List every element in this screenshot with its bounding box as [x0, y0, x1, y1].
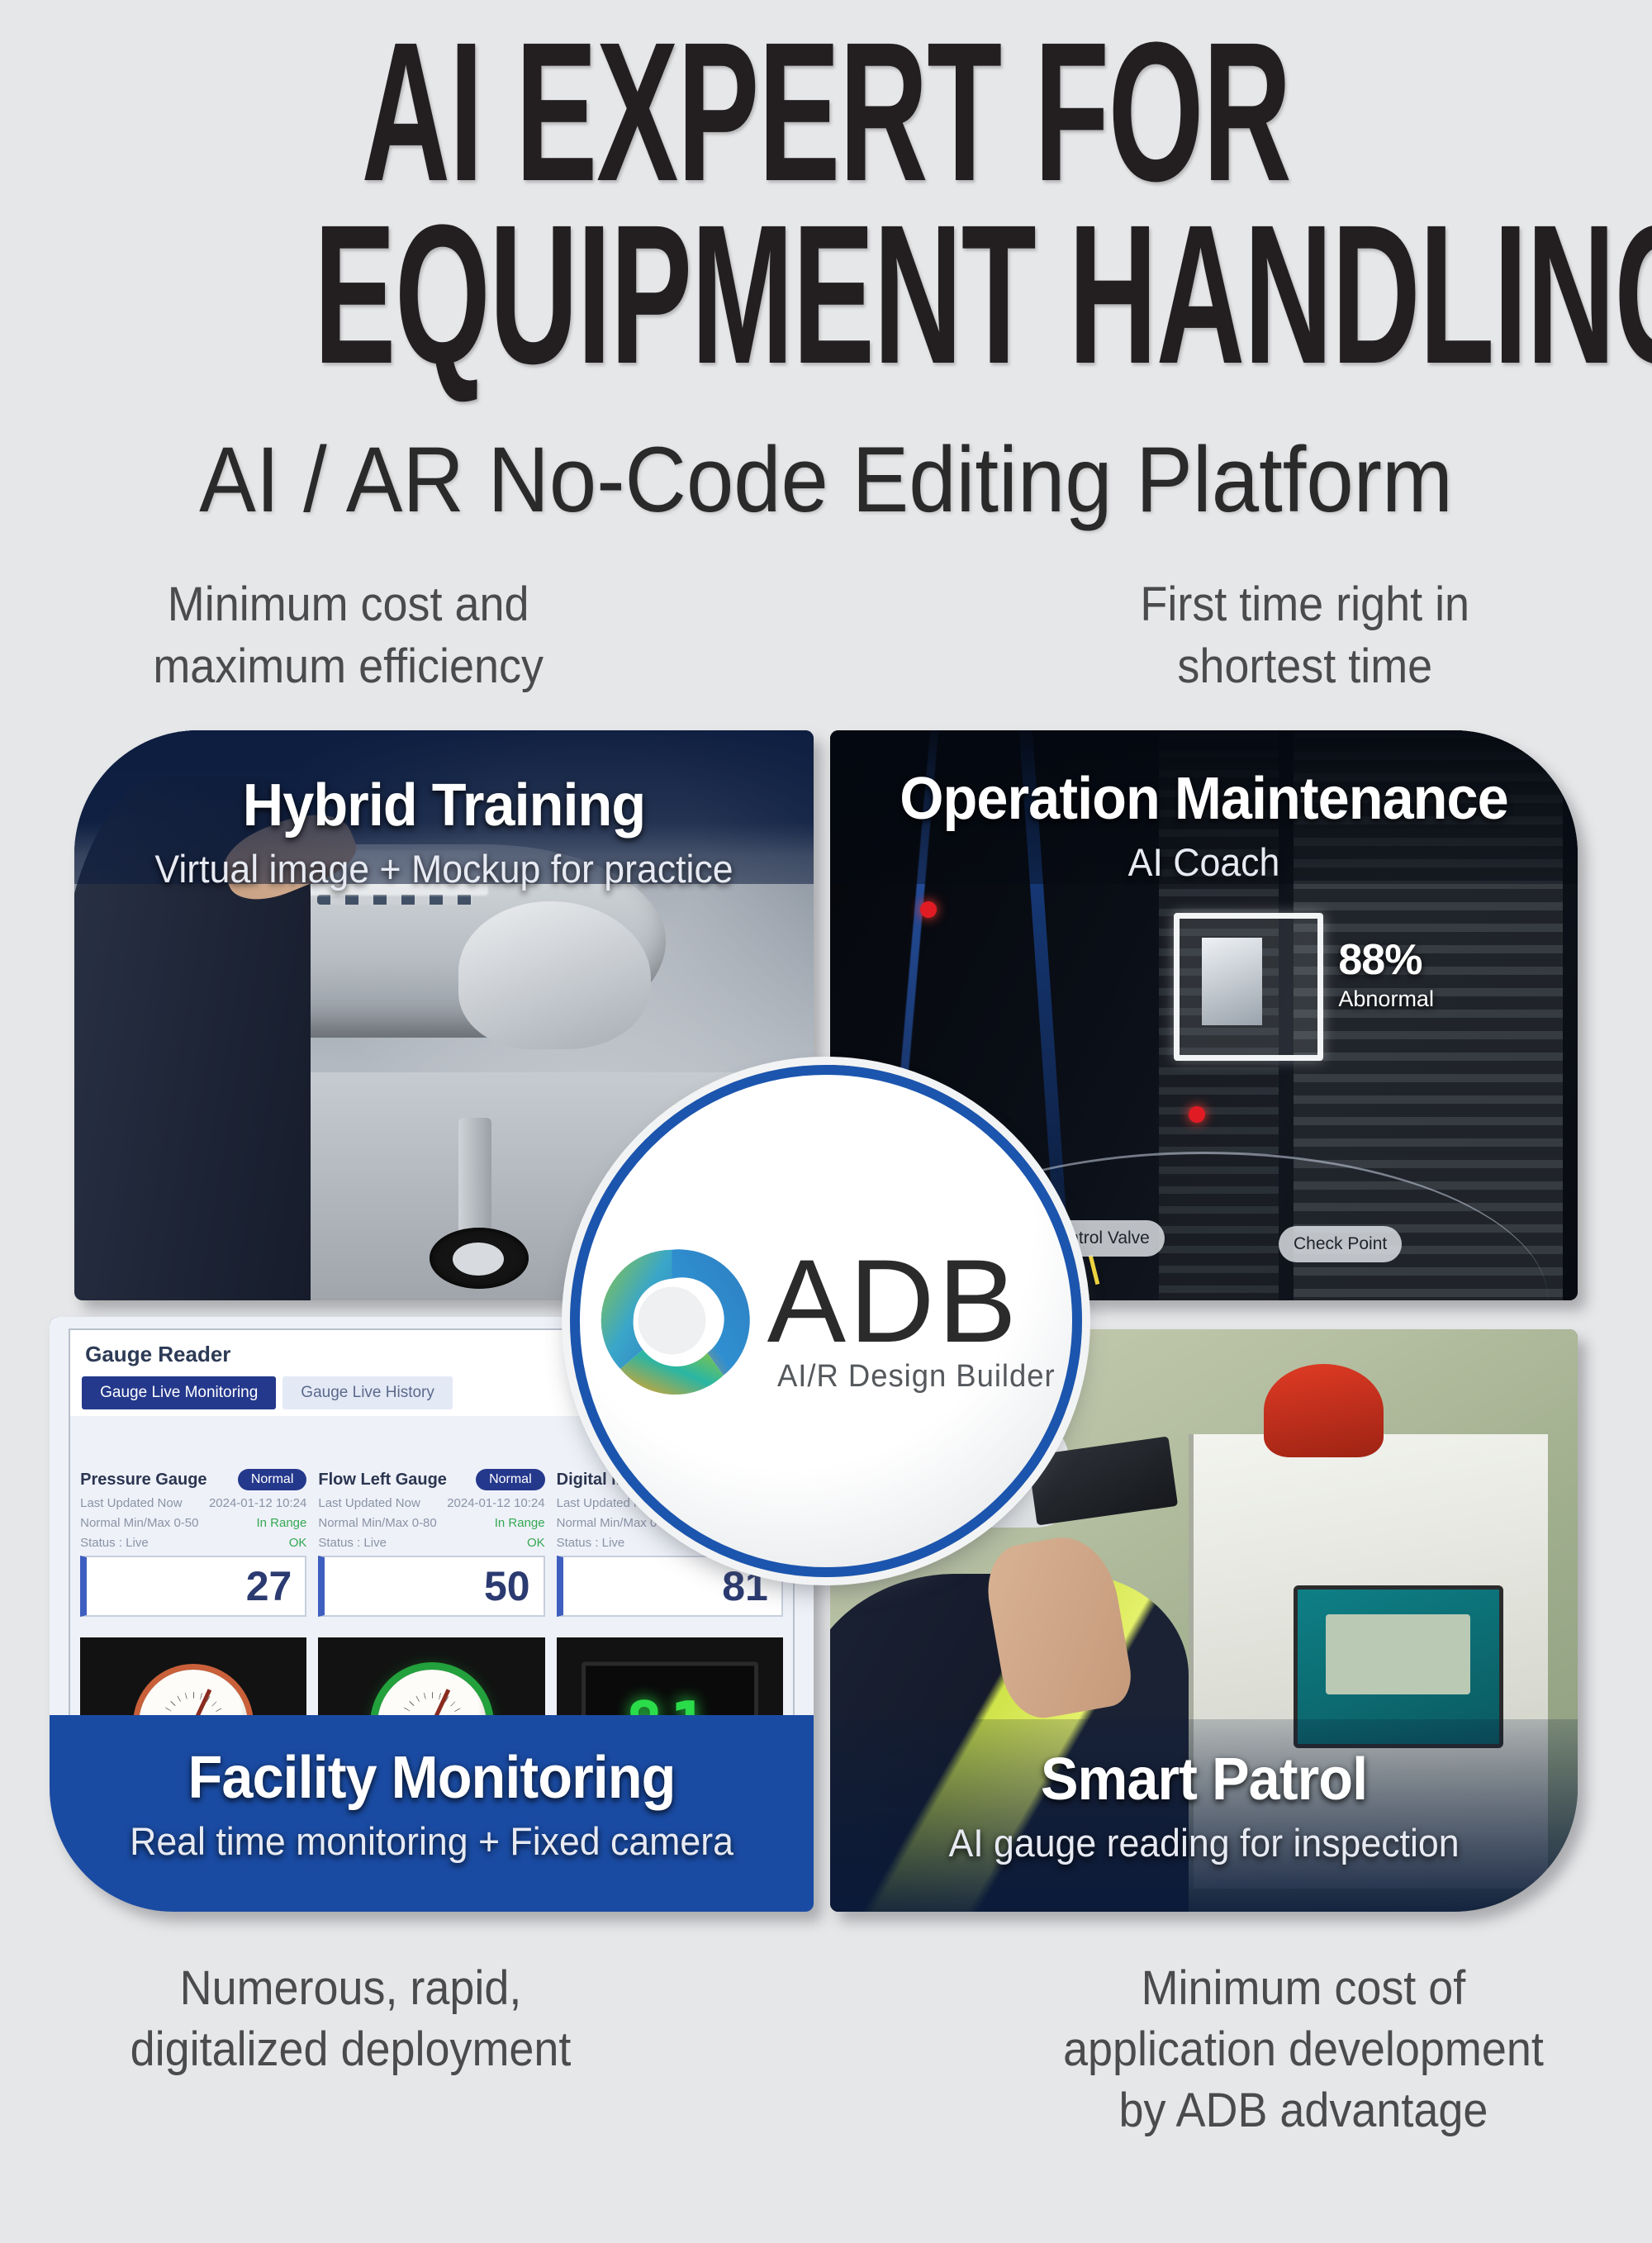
adb-tagline: AI/R Design Builder: [777, 1359, 1056, 1395]
gauge-value-box: 50: [318, 1556, 544, 1617]
card-subtitle: Real time monitoring + Fixed camera: [69, 1818, 795, 1864]
gauge-range-label: Normal Min/Max 0-99: [557, 1516, 675, 1530]
gauge-range-label: Normal Min/Max 0-80: [318, 1516, 436, 1530]
gauge-status-label: Status : Live: [80, 1536, 149, 1550]
gauge-value: 81: [722, 1562, 768, 1610]
gauge-card[interactable]: Pressure Gauge Normal Last Updated Now 2…: [80, 1469, 306, 1617]
gauge-card[interactable]: Flow Left Gauge Normal Last Updated Now …: [318, 1469, 544, 1617]
caption-bottom-left-line1: Numerous, rapid,: [30, 1958, 672, 2019]
caption-bottom-right-line2: application development: [983, 2019, 1625, 2080]
aircraft-windows: [317, 895, 473, 905]
tab-gauge-live-history[interactable]: Gauge Live History: [282, 1376, 453, 1409]
card-subtitle: Virtual image + Mockup for practice: [93, 846, 795, 891]
card-subtitle: AI Coach: [849, 839, 1559, 885]
gauge-range-label: Normal Min/Max 0-50: [80, 1516, 198, 1530]
gauge-updated: Last Updated Now: [318, 1496, 420, 1510]
gauge-name: Pressure Gauge: [80, 1471, 206, 1490]
gauge-value-box: 27: [80, 1556, 306, 1617]
dashboard-title: Gauge Reader: [85, 1342, 230, 1367]
caption-top-left-line1: Minimum cost and: [30, 574, 667, 635]
poster-root: AI EXPERT FOR EQUIPMENT HANDLING AI / AR…: [0, 0, 1652, 2243]
gauge-status-value: OK: [527, 1536, 545, 1550]
ar-marker-dot-1: [920, 901, 937, 918]
adb-logo-badge[interactable]: ADB AI/R Design Builder: [570, 1065, 1082, 1577]
caption-top-left: Minimum cost and maximum efficiency: [30, 574, 814, 696]
card-title: Smart Patrol: [849, 1746, 1559, 1813]
gauge-name: Flow Left Gauge: [318, 1471, 447, 1490]
gauge-status-value: OK: [289, 1536, 307, 1550]
gauge-timestamp: 2024-01-12 10:24: [209, 1496, 306, 1510]
status-badge: Normal: [238, 1469, 307, 1490]
facility-monitoring-label: Facility Monitoring Real time monitoring…: [50, 1744, 814, 1864]
gauge-updated: Last Updated Now: [80, 1496, 182, 1510]
card-title: Operation Maintenance: [849, 765, 1559, 833]
smart-patrol-label: Smart Patrol AI gauge reading for inspec…: [830, 1746, 1578, 1865]
adb-name: ADB: [767, 1247, 1020, 1357]
operation-maintenance-label: Operation Maintenance AI Coach: [830, 765, 1578, 885]
page-subtitle: AI / AR No-Code Editing Platform: [66, 426, 1586, 533]
feature-card-grid: Hybrid Training Virtual image + Mockup f…: [41, 722, 1611, 1920]
card-subtitle: AI gauge reading for inspection: [849, 1820, 1559, 1865]
hybrid-training-label: Hybrid Training Virtual image + Mockup f…: [74, 772, 814, 891]
dashboard-tabs[interactable]: Gauge Live Monitoring Gauge Live History: [82, 1376, 453, 1409]
caption-bottom-right-line3: by ADB advantage: [983, 2080, 1625, 2141]
gauge-range-status: In Range: [495, 1516, 545, 1530]
card-title: Facility Monitoring: [69, 1744, 795, 1812]
ar-pill-right: Check Point: [1279, 1226, 1402, 1262]
top-caption-row: Minimum cost and maximum efficiency Firs…: [0, 574, 1652, 696]
gauge-status-label: Status : Live: [318, 1536, 387, 1550]
red-helmet: [1264, 1364, 1384, 1457]
caption-bottom-left-line2: digitalized deployment: [30, 2019, 672, 2080]
gauge-value: 50: [484, 1562, 530, 1610]
card-title: Hybrid Training: [93, 772, 795, 839]
ar-percent: 88%: [1338, 936, 1422, 984]
tab-gauge-live-monitoring[interactable]: Gauge Live Monitoring: [82, 1376, 276, 1409]
landing-gear-wheel: [430, 1228, 529, 1289]
ar-confidence-readout: 88% Abnormal: [1338, 935, 1434, 1012]
gauge-status-label: Status : Live: [557, 1536, 625, 1550]
caption-bottom-left: Numerous, rapid, digitalized deployment: [30, 1958, 825, 2142]
gauge-value: 27: [246, 1562, 292, 1610]
title-block: AI EXPERT FOR EQUIPMENT HANDLING AI / AR…: [0, 0, 1652, 533]
gauge-range-status: In Range: [256, 1516, 306, 1530]
caption-top-right: First time right in shortest time: [871, 574, 1623, 696]
caption-top-right-line2: shortest time: [986, 636, 1624, 697]
gauge-timestamp: 2024-01-12 10:24: [447, 1496, 544, 1510]
caption-top-right-line1: First time right in: [986, 574, 1624, 635]
page-title-line1: AI EXPERT FOR: [314, 15, 1338, 209]
adb-wordmark: ADB AI/R Design Builder: [767, 1247, 1061, 1395]
caption-bottom-right: Minimum cost of application development …: [883, 1958, 1624, 2142]
ar-status: Abnormal: [1338, 986, 1434, 1012]
ar-detection-frame: [1174, 913, 1323, 1061]
status-badge: Normal: [476, 1469, 545, 1490]
bottom-caption-row: Numerous, rapid, digitalized deployment …: [0, 1958, 1652, 2142]
page-title-line2: EQUIPMENT HANDLING: [314, 197, 1338, 392]
caption-top-left-line2: maximum efficiency: [30, 636, 667, 697]
caption-bottom-right-line1: Minimum cost of: [983, 1958, 1625, 2019]
adb-swirl-icon: [591, 1240, 752, 1401]
